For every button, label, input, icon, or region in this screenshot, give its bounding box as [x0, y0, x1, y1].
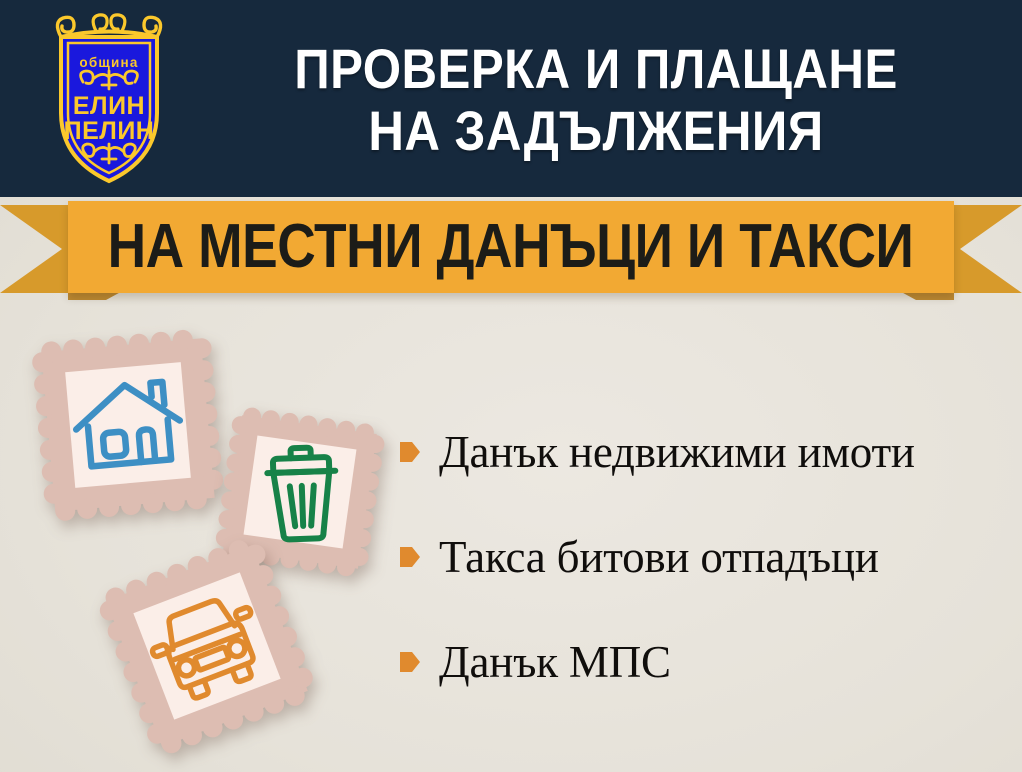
- tax-type-list: Данък недвижими имоти Такса битови отпад…: [399, 424, 1019, 690]
- crest-text-obshtina: община: [79, 55, 138, 70]
- municipality-crest-logo: община ЕЛИН ПЕЛИН: [41, 9, 177, 189]
- stamp-card-vehicle: [92, 531, 322, 761]
- list-item-label: Данък недвижими имоти: [439, 430, 915, 475]
- page-title-line-1: ПРОВЕРКА И ПЛАЩАНЕ: [294, 39, 898, 99]
- page-title-line-2: НА ЗАДЪЛЖЕНИЯ: [368, 101, 823, 161]
- list-item[interactable]: Данък недвижими имоти: [399, 424, 1019, 480]
- ribbon-banner: НА МЕСТНИ ДАНЪЦИ И ТАКСИ: [0, 196, 1022, 306]
- ribbon-label: НА МЕСТНИ ДАНЪЦИ И ТАКСИ: [108, 216, 914, 278]
- list-item-label: Такса битови отпадъци: [439, 535, 879, 580]
- crest-text-elin: ЕЛИН: [73, 92, 145, 120]
- poster-canvas: ПРОВЕРКА И ПЛАЩАНЕ НА ЗАДЪЛЖЕНИЯ община: [0, 0, 1022, 772]
- list-item-label: Данък МПС: [439, 640, 671, 685]
- list-item[interactable]: Такса битови отпадъци: [399, 529, 1019, 585]
- ribbon-panel: НА МЕСТНИ ДАНЪЦИ И ТАКСИ: [68, 201, 954, 293]
- arrow-bullet-icon: [399, 544, 421, 570]
- arrow-bullet-icon: [399, 649, 421, 675]
- arrow-bullet-icon: [399, 439, 421, 465]
- list-item[interactable]: Данък МПС: [399, 634, 1019, 690]
- page-title: ПРОВЕРКА И ПЛАЩАНЕ НА ЗАДЪЛЖЕНИЯ: [235, 20, 957, 180]
- crest-text-pelin: ПЕЛИН: [64, 117, 155, 145]
